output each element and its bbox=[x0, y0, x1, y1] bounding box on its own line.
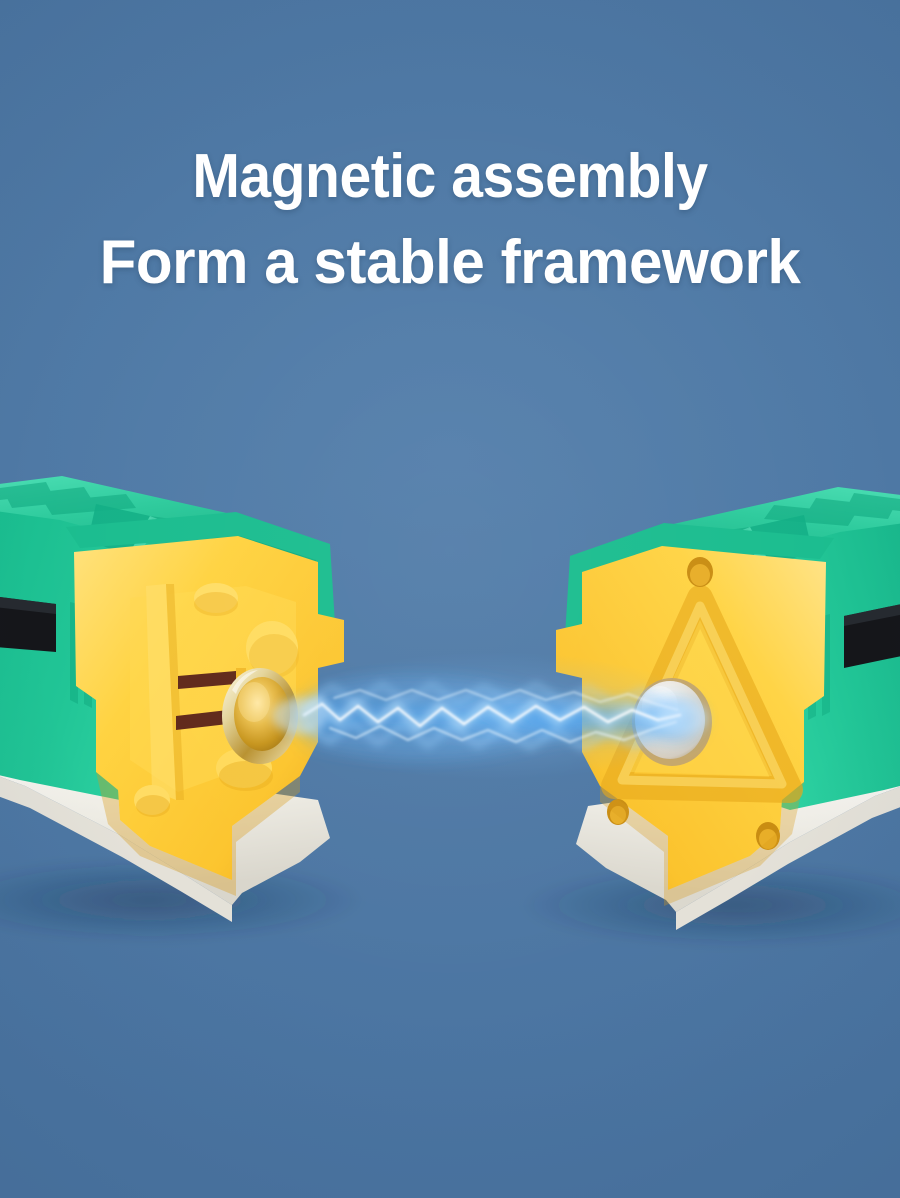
left-magnetic-block bbox=[0, 476, 344, 922]
left-face-stud-lower-shade bbox=[219, 761, 273, 791]
left-face-stud-bottom-shade bbox=[136, 795, 170, 817]
right-face-hole-top-inner bbox=[690, 564, 710, 586]
left-gold-magnet-inner-sheen bbox=[238, 682, 270, 722]
right-magnetic-block bbox=[556, 487, 900, 930]
headline-line-2: Form a stable framework bbox=[14, 232, 887, 294]
left-face-stud-top-shade bbox=[194, 592, 238, 616]
headline-block: Magnetic assembly Form a stable framewor… bbox=[0, 146, 900, 294]
headline-line-1: Magnetic assembly bbox=[36, 146, 864, 208]
right-silver-magnet-sheen bbox=[642, 686, 678, 726]
product-promo-image: Magnetic assembly Form a stable framewor… bbox=[0, 0, 900, 1198]
